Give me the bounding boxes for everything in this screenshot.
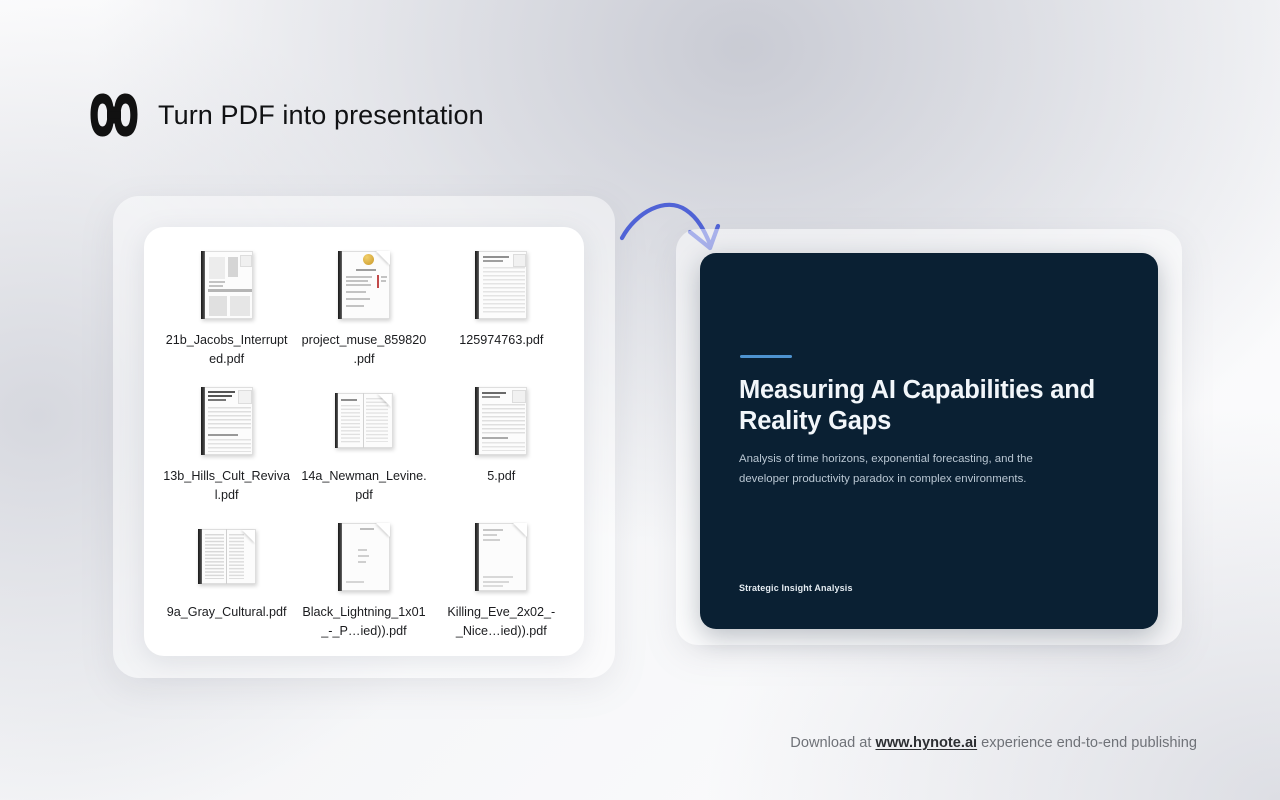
file-item[interactable]: Killing_Eve_2x02_-_Nice…ied)).pdf [435,517,568,653]
slide-subtitle: Analysis of time horizons, exponential f… [739,449,1051,489]
pdf-article-with-gold-logo-thumbnail [332,249,396,321]
file-item[interactable]: 125974763.pdf [435,245,568,381]
page-header: Turn PDF into presentation [88,90,484,140]
files-panel: 21b_Jacobs_Interrupted.pdf project_mus [144,227,584,656]
file-item[interactable]: 14a_Newman_Levine.pdf [297,381,430,517]
file-name: 21b_Jacobs_Interrupted.pdf [163,331,291,368]
file-name: 5.pdf [437,467,565,486]
pdf-open-spread-thumbnail [195,521,259,593]
presentation-slide[interactable]: Measuring AI Capabilities and Reality Ga… [700,253,1158,629]
file-item[interactable]: 9a_Gray_Cultural.pdf [160,517,293,653]
pdf-open-spread-thumbnail [332,385,396,457]
download-footer: Download at www.hynote.ai experience end… [0,735,1197,751]
file-item[interactable]: 21b_Jacobs_Interrupted.pdf [160,245,293,381]
file-item[interactable]: 13b_Hills_Cult_Revival.pdf [160,381,293,517]
slide-footer-label: Strategic Insight Analysis [739,583,853,593]
footer-prefix: Download at [790,735,875,751]
pdf-script-page-thumbnail [332,521,396,593]
hynote-logo-icon [88,90,140,140]
slide-accent-line [740,355,792,358]
pdf-script-page-thumbnail [469,521,533,593]
file-name: 125974763.pdf [437,331,565,350]
file-name: 13b_Hills_Cult_Revival.pdf [163,467,291,504]
file-item[interactable]: project_muse_859820.pdf [297,245,430,381]
file-name: Black_Lightning_1x01_-_P…ied)).pdf [300,603,428,640]
hynote-link[interactable]: www.hynote.ai [875,735,977,751]
page-title: Turn PDF into presentation [158,100,484,131]
file-name: 14a_Newman_Levine.pdf [300,467,428,504]
file-name: 9a_Gray_Cultural.pdf [163,603,291,622]
file-item[interactable]: 5.pdf [435,381,568,517]
file-name: project_muse_859820.pdf [300,331,428,368]
file-grid: 21b_Jacobs_Interrupted.pdf project_mus [160,245,568,653]
file-item[interactable]: Black_Lightning_1x01_-_P…ied)).pdf [297,517,430,653]
pdf-two-column-report-thumbnail [195,249,259,321]
pdf-titled-article-thumbnail [195,385,259,457]
file-name: Killing_Eve_2x02_-_Nice…ied)).pdf [437,603,565,640]
pdf-text-page-thumbnail [469,385,533,457]
footer-suffix: experience end-to-end publishing [977,735,1197,751]
pdf-text-page-thumbnail [469,249,533,321]
slide-title: Measuring AI Capabilities and Reality Ga… [739,375,1109,437]
